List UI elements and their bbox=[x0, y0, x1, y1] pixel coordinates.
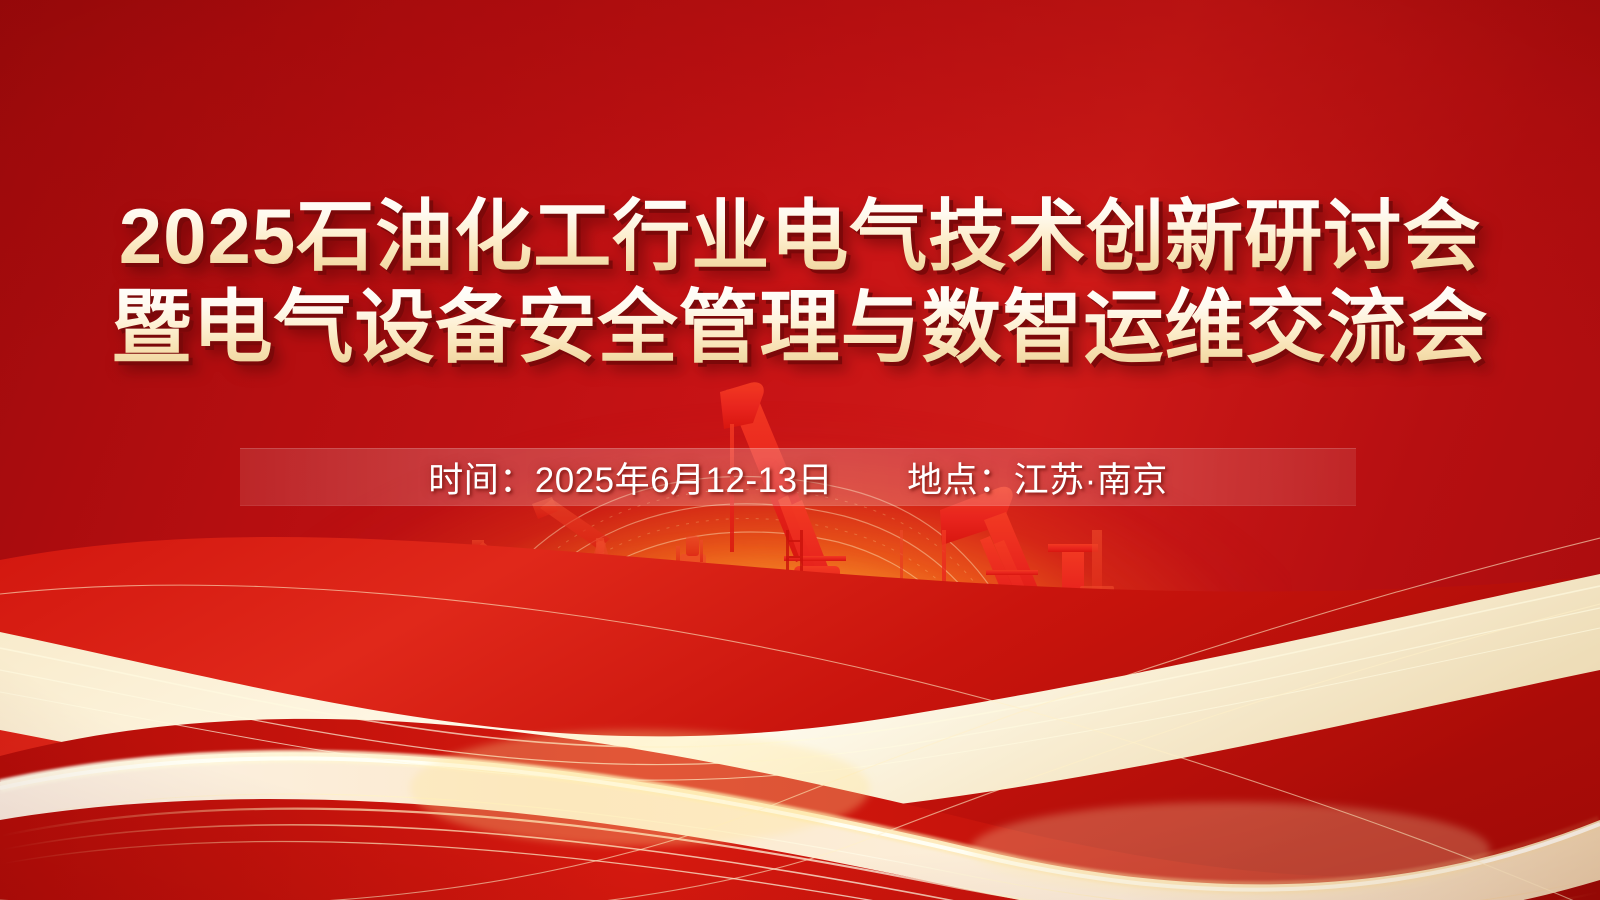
title-line-1: 2025石油化工行业电气技术创新研讨会 bbox=[0, 190, 1600, 282]
title-line-2: 暨电气设备安全管理与数智运维交流会 bbox=[0, 282, 1600, 374]
conference-banner: 2025石油化工行业电气技术创新研讨会 暨电气设备安全管理与数智运维交流会 时间… bbox=[0, 0, 1600, 900]
title-block: 2025石油化工行业电气技术创新研讨会 暨电气设备安全管理与数智运维交流会 bbox=[0, 190, 1600, 374]
subtitle-bar: 时间：2025年6月12-13日 地点：江苏·南京 bbox=[240, 448, 1356, 506]
event-date: 时间：2025年6月12-13日 bbox=[428, 452, 833, 503]
event-location: 地点：江苏·南京 bbox=[907, 452, 1168, 503]
